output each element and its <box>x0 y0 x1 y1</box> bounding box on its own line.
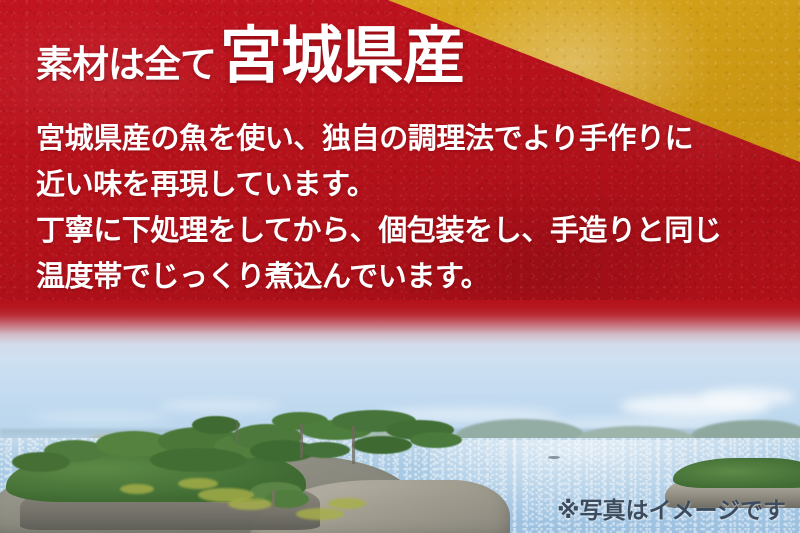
pine-trunk <box>236 420 238 446</box>
headline: 素材は全て 宮城県産 <box>36 26 464 88</box>
body-line-3: 丁寧に下処理をしてから、個包装をし、手造りと同じ <box>36 208 776 254</box>
pine-trunk <box>352 426 355 464</box>
right-island-pines <box>673 458 800 488</box>
grass-tuft <box>328 498 366 509</box>
body-line-1: 宮城県産の魚を使い、独自の調理法でより手作りに <box>36 116 776 162</box>
pine-trunk <box>272 490 275 512</box>
grass-tuft <box>296 508 344 520</box>
grass-tuft <box>178 478 218 489</box>
pine-tree <box>300 442 350 458</box>
grass-tuft <box>228 498 272 510</box>
pine-tree <box>150 448 246 472</box>
pine-tree <box>410 432 462 448</box>
cloud <box>160 400 280 412</box>
cloud <box>30 412 170 423</box>
headline-emphasis: 宮城県産 <box>220 26 464 88</box>
small-boat <box>548 456 560 459</box>
body-line-4: 温度帯でじっくり煮込んでいます。 <box>36 254 776 300</box>
body-copy: 宮城県産の魚を使い、独自の調理法でより手作りに 近い味を再現しています。 丁寧に… <box>36 116 776 300</box>
seascape-photo: ※写真はイメージです <box>0 300 800 533</box>
product-promo-banner: ※写真はイメージです 素材は全て 宮城県産 宮城県産の魚を使い、独自の調理法でよ… <box>0 0 800 533</box>
headline-prefix: 素材は全て <box>36 47 216 84</box>
pine-tree <box>192 416 240 434</box>
cloud <box>700 388 795 406</box>
grass-tuft <box>120 484 154 494</box>
body-line-2: 近い味を再現しています。 <box>36 162 776 208</box>
pine-trunk <box>300 424 303 458</box>
photo-disclaimer-caption: ※写真はイメージです <box>557 491 786 525</box>
pine-tree <box>352 436 412 454</box>
pine-tree <box>12 452 70 472</box>
